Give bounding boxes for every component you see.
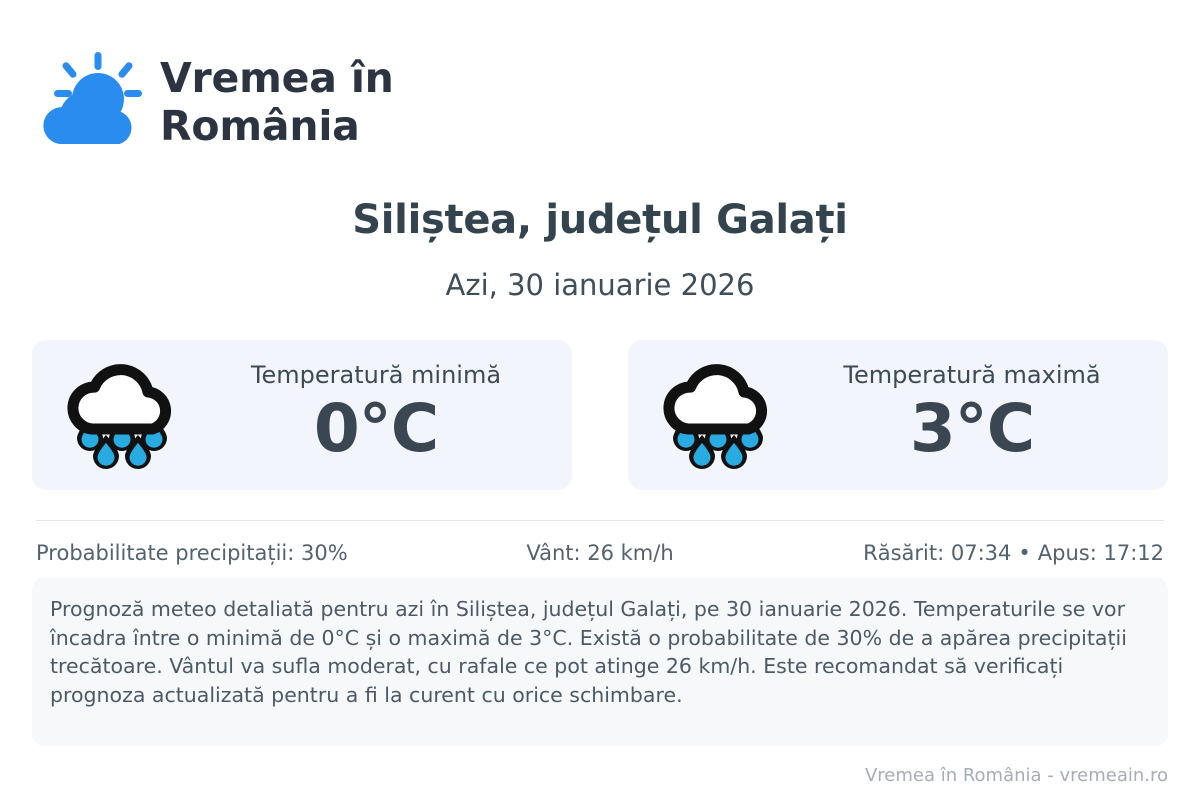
max-temperature-label: Temperatură maximă	[843, 359, 1100, 391]
forecast-description-text: Prognoză meteo detaliată pentru azi în S…	[50, 595, 1144, 709]
temperature-cards: Temperatură minimă 0°C	[32, 340, 1168, 490]
sunrise-time: Răsărit: 07:34	[863, 541, 1011, 565]
forecast-description-box: Prognoză meteo detaliată pentru azi în S…	[32, 578, 1168, 746]
rain-cloud-icon	[658, 359, 778, 471]
section-divider	[36, 520, 1164, 521]
brand-name: Vremea în România	[160, 54, 430, 150]
bullet-separator-icon: •	[1011, 541, 1037, 565]
max-temperature-value: 3°C	[910, 391, 1034, 467]
brand-header[interactable]: Vremea în România	[36, 52, 430, 152]
sun-times: Răsărit: 07:34•Apus: 17:12	[788, 539, 1164, 567]
page-subtitle-date: Azi, 30 ianuarie 2026	[0, 267, 1200, 303]
min-temperature-card: Temperatură minimă 0°C	[32, 340, 572, 490]
rain-cloud-icon	[62, 359, 182, 471]
max-temperature-text: Temperatură maximă 3°C	[800, 359, 1144, 467]
wind-speed: Vânt: 26 km/h	[412, 539, 788, 567]
min-temperature-label: Temperatură minimă	[251, 359, 501, 391]
footer-credit: Vremea în România - vremeain.ro	[865, 764, 1168, 788]
precipitation-probability: Probabilitate precipitații: 30%	[36, 539, 412, 567]
page-title: Siliștea, județul Galați	[0, 196, 1200, 244]
sunset-time: Apus: 17:12	[1038, 541, 1164, 565]
weather-metrics-row: Probabilitate precipitații: 30% Vânt: 26…	[36, 539, 1164, 567]
sun-behind-cloud-icon	[36, 52, 142, 152]
min-temperature-value: 0°C	[314, 391, 438, 467]
weather-page: Vremea în România Siliștea, județul Gala…	[0, 0, 1200, 800]
min-temperature-text: Temperatură minimă 0°C	[204, 359, 548, 467]
max-temperature-card: Temperatură maximă 3°C	[628, 340, 1168, 490]
